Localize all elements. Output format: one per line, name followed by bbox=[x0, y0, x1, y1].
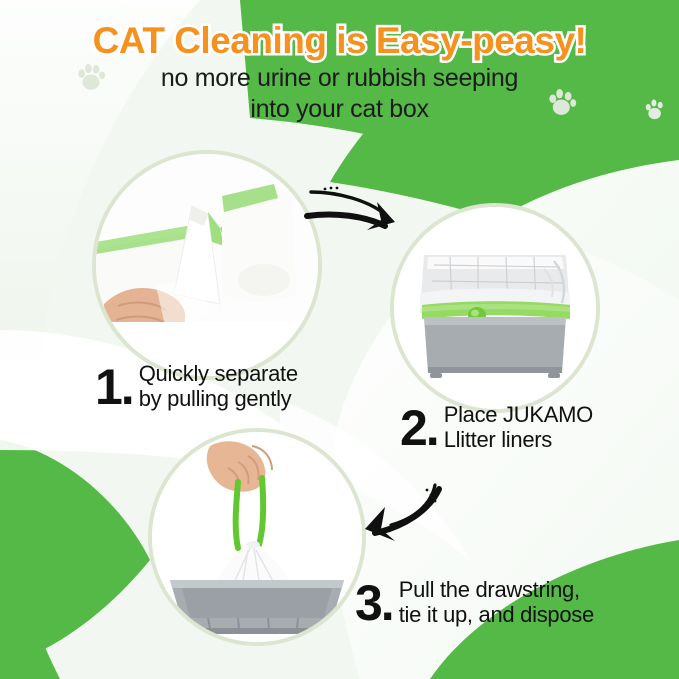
step-2-text: Place JUKAMO Llitter liners bbox=[444, 403, 593, 452]
step-3-number: 3. bbox=[355, 580, 393, 626]
page-subtitle: no more urine or rubbish seeping into yo… bbox=[0, 63, 679, 124]
step-1-line-2: by pulling gently bbox=[139, 386, 292, 411]
step-2-number: 2. bbox=[400, 405, 438, 451]
step-3-line-2: tie it up, and dispose bbox=[399, 602, 594, 627]
step-2: 2. Place JUKAMO Llitter liners bbox=[400, 403, 593, 452]
step-3-line-1: Pull the drawstring, bbox=[399, 577, 580, 602]
step-2-line-1: Place JUKAMO bbox=[444, 402, 593, 427]
step-2-line-2: Llitter liners bbox=[444, 427, 552, 452]
page-title: CAT Cleaning is Easy-peasy! bbox=[0, 20, 679, 62]
infographic-poster: CAT Cleaning is Easy-peasy! no more urin… bbox=[0, 0, 679, 679]
step-3-photo bbox=[148, 428, 366, 646]
step-3-text: Pull the drawstring, tie it up, and disp… bbox=[399, 578, 594, 627]
step-1-line-1: Quickly separate bbox=[139, 361, 298, 386]
step-1: 1. Quickly separate by pulling gently bbox=[95, 362, 298, 411]
step-1-photo bbox=[92, 150, 322, 380]
step-3: 3. Pull the drawstring, tie it up, and d… bbox=[355, 578, 594, 627]
arrow-step-1-to-2-icon bbox=[303, 178, 407, 240]
step-1-text: Quickly separate by pulling gently bbox=[139, 362, 298, 411]
subtitle-line-1: no more urine or rubbish seeping bbox=[161, 64, 518, 92]
step-1-number: 1. bbox=[95, 364, 133, 410]
arrow-step-2-to-3-icon bbox=[343, 483, 447, 555]
step-2-photo bbox=[390, 203, 600, 413]
subtitle-line-2: into your cat box bbox=[0, 94, 679, 125]
